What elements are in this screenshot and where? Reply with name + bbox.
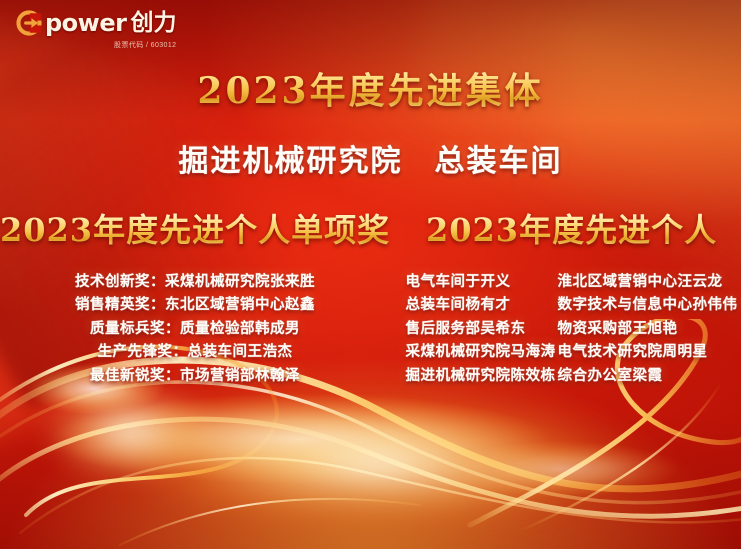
list-item: 生产先锋奖：总装车间王浩杰 [75,340,315,363]
list-item-name-b: 淮北区域营销中心汪云龙 [558,270,723,293]
poster-subtitle: 掘进机械研究院 总装车间 [0,136,741,180]
list-item: 质量标兵奖：质量检验部韩成男 [75,317,315,340]
c-arrow-logo-icon [16,10,42,36]
left-award-column: 2023年度先进个人单项奖 技术创新奖：采煤机械研究院张来胜 销售精英奖：东北区… [0,212,396,387]
left-section-heading: 2023年度先进个人单项奖 [0,212,390,250]
list-item-name-a: 采煤机械研究院马海涛 [406,340,558,363]
list-item-name-b: 数字技术与信息中心孙伟伟 [558,293,738,316]
list-item: 技术创新奖：采煤机械研究院张来胜 [75,270,315,293]
list-item: 掘进机械研究院陈效栋 综合办公室梁霞 [406,364,738,387]
list-item-name-a: 掘进机械研究院陈效栋 [406,364,558,387]
list-item-name-a: 总装车间杨有才 [406,293,558,316]
right-section-heading: 2023年度先进个人 [426,212,717,250]
list-item: 售后服务部吴希东 物资采购部王旭艳 [406,317,738,340]
list-item: 采煤机械研究院马海涛 电气技术研究院周明星 [406,340,738,363]
award-sections: 2023年度先进个人单项奖 技术创新奖：采煤机械研究院张来胜 销售精英奖：东北区… [0,212,741,387]
brand-logo-word: power [45,11,126,35]
stock-code-line: 股票代码 / 603012 [114,40,176,50]
right-award-column: 2023年度先进个人 电气车间于开义 淮北区域营销中心汪云龙 总装车间杨有才 数… [396,212,741,387]
swirl-left-glow [15,371,245,491]
list-item-name-b: 物资采购部王旭艳 [558,317,678,340]
list-item-name-b: 电气技术研究院周明星 [558,340,708,363]
poster-main-title: 2023年度先进集体 [0,62,741,114]
brand-logo[interactable]: power 创力 股票代码 / 603012 [16,10,176,50]
list-item: 最佳新锐奖：市场营销部林翰泽 [75,364,315,387]
brand-logo-row: power 创力 [16,10,176,36]
list-item: 电气车间于开义 淮北区域营销中心汪云龙 [406,270,738,293]
award-poster: power 创力 股票代码 / 603012 2023年度先进集体 掘进机械研究… [0,0,741,549]
brand-logo-chinese: 创力 [130,12,176,35]
list-item-name-a: 电气车间于开义 [406,270,558,293]
list-item-name-a: 售后服务部吴希东 [406,317,558,340]
list-item: 销售精英奖：东北区域营销中心赵鑫 [75,293,315,316]
list-item-name-b: 综合办公室梁霞 [558,364,663,387]
right-award-list: 电气车间于开义 淮北区域营销中心汪云龙 总装车间杨有才 数字技术与信息中心孙伟伟… [406,270,738,387]
list-item: 总装车间杨有才 数字技术与信息中心孙伟伟 [406,293,738,316]
left-award-list: 技术创新奖：采煤机械研究院张来胜 销售精英奖：东北区域营销中心赵鑫 质量标兵奖：… [75,270,315,387]
